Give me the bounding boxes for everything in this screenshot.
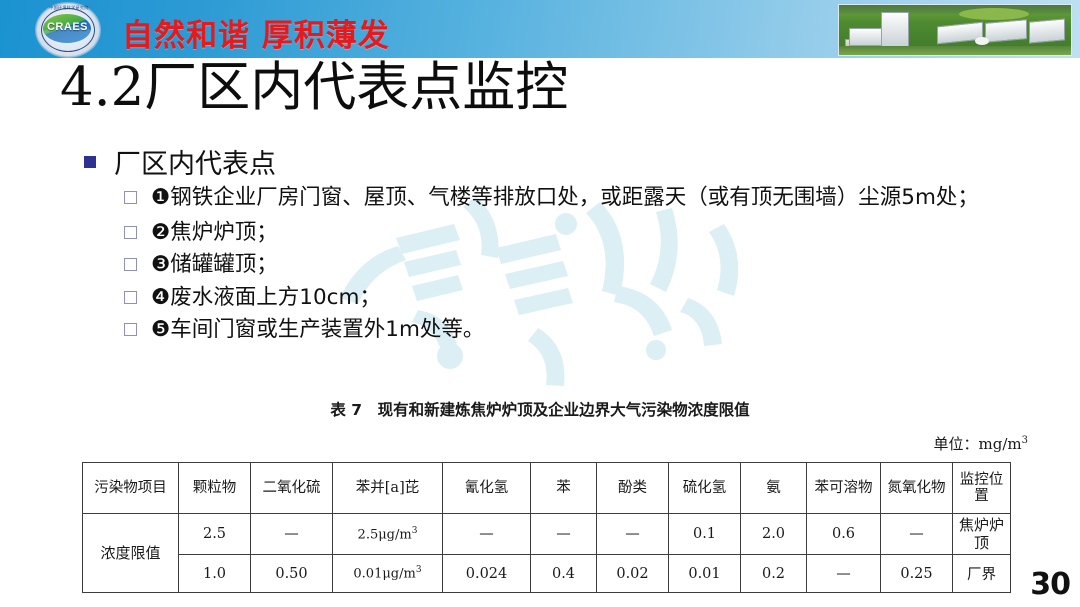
cell-benzo-a-pyrene-1: 2.5μg/m3 (333, 514, 443, 555)
list-item: ❶钢铁企业厂房门窗、屋顶、气楼等排放口处，或距露天（或有顶无围墙）尘源5m处； (124, 182, 1024, 213)
cell-benzene-2: 0.4 (531, 555, 597, 593)
hollow-square-bullet-icon (124, 258, 137, 271)
column-header-monitor-location: 监控位置 (953, 463, 1011, 514)
table-row: 1.0 0.50 0.01μg/m3 0.024 0.4 0.02 0.01 0… (83, 555, 1011, 593)
table-caption: 表 7 现有和新建炼焦炉炉顶及企业边界大气污染物浓度限值 (0, 398, 1080, 420)
column-header-ammonia: 氨 (741, 463, 807, 514)
cell-hydrogen-cyanide-1: — (443, 514, 531, 555)
list-item-label: ❺车间门窗或生产装置外1m处等。 (151, 314, 484, 345)
hollow-square-bullet-icon (124, 226, 137, 239)
cell-ammonia-1: 2.0 (741, 514, 807, 555)
column-header-phenols: 酚类 (597, 463, 669, 514)
column-header-pollutant: 污染物项目 (83, 463, 179, 514)
table-row: 浓度限值 2.5 — 2.5μg/m3 — — — 0.1 2.0 0.6 — … (83, 514, 1011, 555)
hollow-square-bullet-icon (124, 323, 137, 336)
photo-building-block-3 (1029, 18, 1065, 43)
column-header-benzene: 苯 (531, 463, 597, 514)
page-title: 4.2厂区内代表点监控 (60, 60, 568, 116)
list-item: ❸储罐罐顶； (124, 249, 1024, 280)
list-item: ❺车间门窗或生产装置外1m处等。 (124, 314, 1024, 345)
photo-dome (975, 37, 989, 45)
column-header-benzo-a-pyrene: 苯并[a]芘 (333, 463, 443, 514)
cell-monitor-location-1: 焦炉炉顶 (953, 514, 1011, 555)
table-header-row: 污染物项目 颗粒物 二氧化硫 苯并[a]芘 氰化氢 苯 酚类 硫化氢 氨 苯可溶… (83, 463, 1011, 514)
row-header-concentration-limit: 浓度限值 (83, 514, 179, 593)
unit-exponent: 3 (1022, 435, 1028, 446)
column-header-benzene-soluble: 苯可溶物 (807, 463, 881, 514)
photo-ground (839, 46, 1071, 55)
list-item-label: ❷焦炉炉顶； (151, 217, 278, 248)
table-unit-note: 单位：mg/m3 (934, 433, 1029, 454)
craes-logo: 中国环境科学研究院 CRAES (30, 1, 108, 57)
cell-monitor-location-2: 厂界 (953, 555, 1011, 593)
cell-so2-2: 0.50 (251, 555, 333, 593)
list-item-label: ❹废水液面上方10cm； (151, 282, 381, 313)
list-item: ❷焦炉炉顶； (124, 217, 1024, 248)
photo-treeline (839, 5, 1071, 14)
photo-building-tower (881, 12, 909, 47)
slide-header-band: 中国环境科学研究院 CRAES 自然和谐 厚积薄发 (0, 0, 1080, 58)
cell-particulate-1: 2.5 (179, 514, 251, 555)
photo-building-block-2 (985, 19, 1027, 43)
page-number: 30 (1030, 567, 1070, 602)
photo-building-low (849, 28, 885, 46)
logo-acronym: CRAES (44, 21, 91, 33)
column-header-hydrogen-sulfide: 硫化氢 (669, 463, 741, 514)
list-item-label: ❶钢铁企业厂房门窗、屋顶、气楼等排放口处，或距露天（或有顶无围墙）尘源5m处； (151, 182, 979, 213)
cell-benzene-1: — (531, 514, 597, 555)
cell-benzene-soluble-1: 0.6 (807, 514, 881, 555)
photo-lawn (959, 8, 1029, 20)
header-slogan: 自然和谐 厚积薄发 (122, 10, 390, 55)
cell-nox-1: — (881, 514, 953, 555)
unit-value: mg/m (979, 435, 1022, 453)
logo-ring-text-top: 中国环境科学研究院 (30, 5, 108, 11)
cell-ammonia-2: 0.2 (741, 555, 807, 593)
list-item: ❹废水液面上方10cm； (124, 282, 1024, 313)
cell-nox-2: 0.25 (881, 555, 953, 593)
level1-bullet-label: 厂区内代表点 (114, 142, 276, 181)
hollow-square-bullet-icon (124, 291, 137, 304)
pollutant-limits-table: 污染物项目 颗粒物 二氧化硫 苯并[a]芘 氰化氢 苯 酚类 硫化氢 氨 苯可溶… (82, 462, 1011, 593)
list-item-label: ❸储罐罐顶； (151, 249, 278, 280)
filled-square-bullet-icon (84, 156, 96, 168)
cell-benzene-soluble-2: — (807, 555, 881, 593)
cell-hydrogen-cyanide-2: 0.024 (443, 555, 531, 593)
unit-label: 单位： (934, 435, 979, 453)
cell-so2-1: — (251, 514, 333, 555)
column-header-nox: 氮氧化物 (881, 463, 953, 514)
column-header-particulate: 颗粒物 (179, 463, 251, 514)
cell-particulate-2: 1.0 (179, 555, 251, 593)
cell-hydrogen-sulfide-1: 0.1 (669, 514, 741, 555)
hollow-square-bullet-icon (124, 191, 137, 204)
cell-phenols-2: 0.02 (597, 555, 669, 593)
cell-benzo-a-pyrene-2: 0.01μg/m3 (333, 555, 443, 593)
level1-bullet-item: 厂区内代表点 (84, 142, 276, 181)
campus-aerial-photo (838, 4, 1072, 56)
level2-bullet-list: ❶钢铁企业厂房门窗、屋顶、气楼等排放口处，或距露天（或有顶无围墙）尘源5m处； … (124, 182, 1024, 346)
cell-hydrogen-sulfide-2: 0.01 (669, 555, 741, 593)
column-header-so2: 二氧化硫 (251, 463, 333, 514)
column-header-hydrogen-cyanide: 氰化氢 (443, 463, 531, 514)
cell-phenols-1: — (597, 514, 669, 555)
presentation-slide: 中国环境科学研究院 CRAES 自然和谐 厚积薄发 4.2厂区内代表点监控 (0, 0, 1080, 607)
